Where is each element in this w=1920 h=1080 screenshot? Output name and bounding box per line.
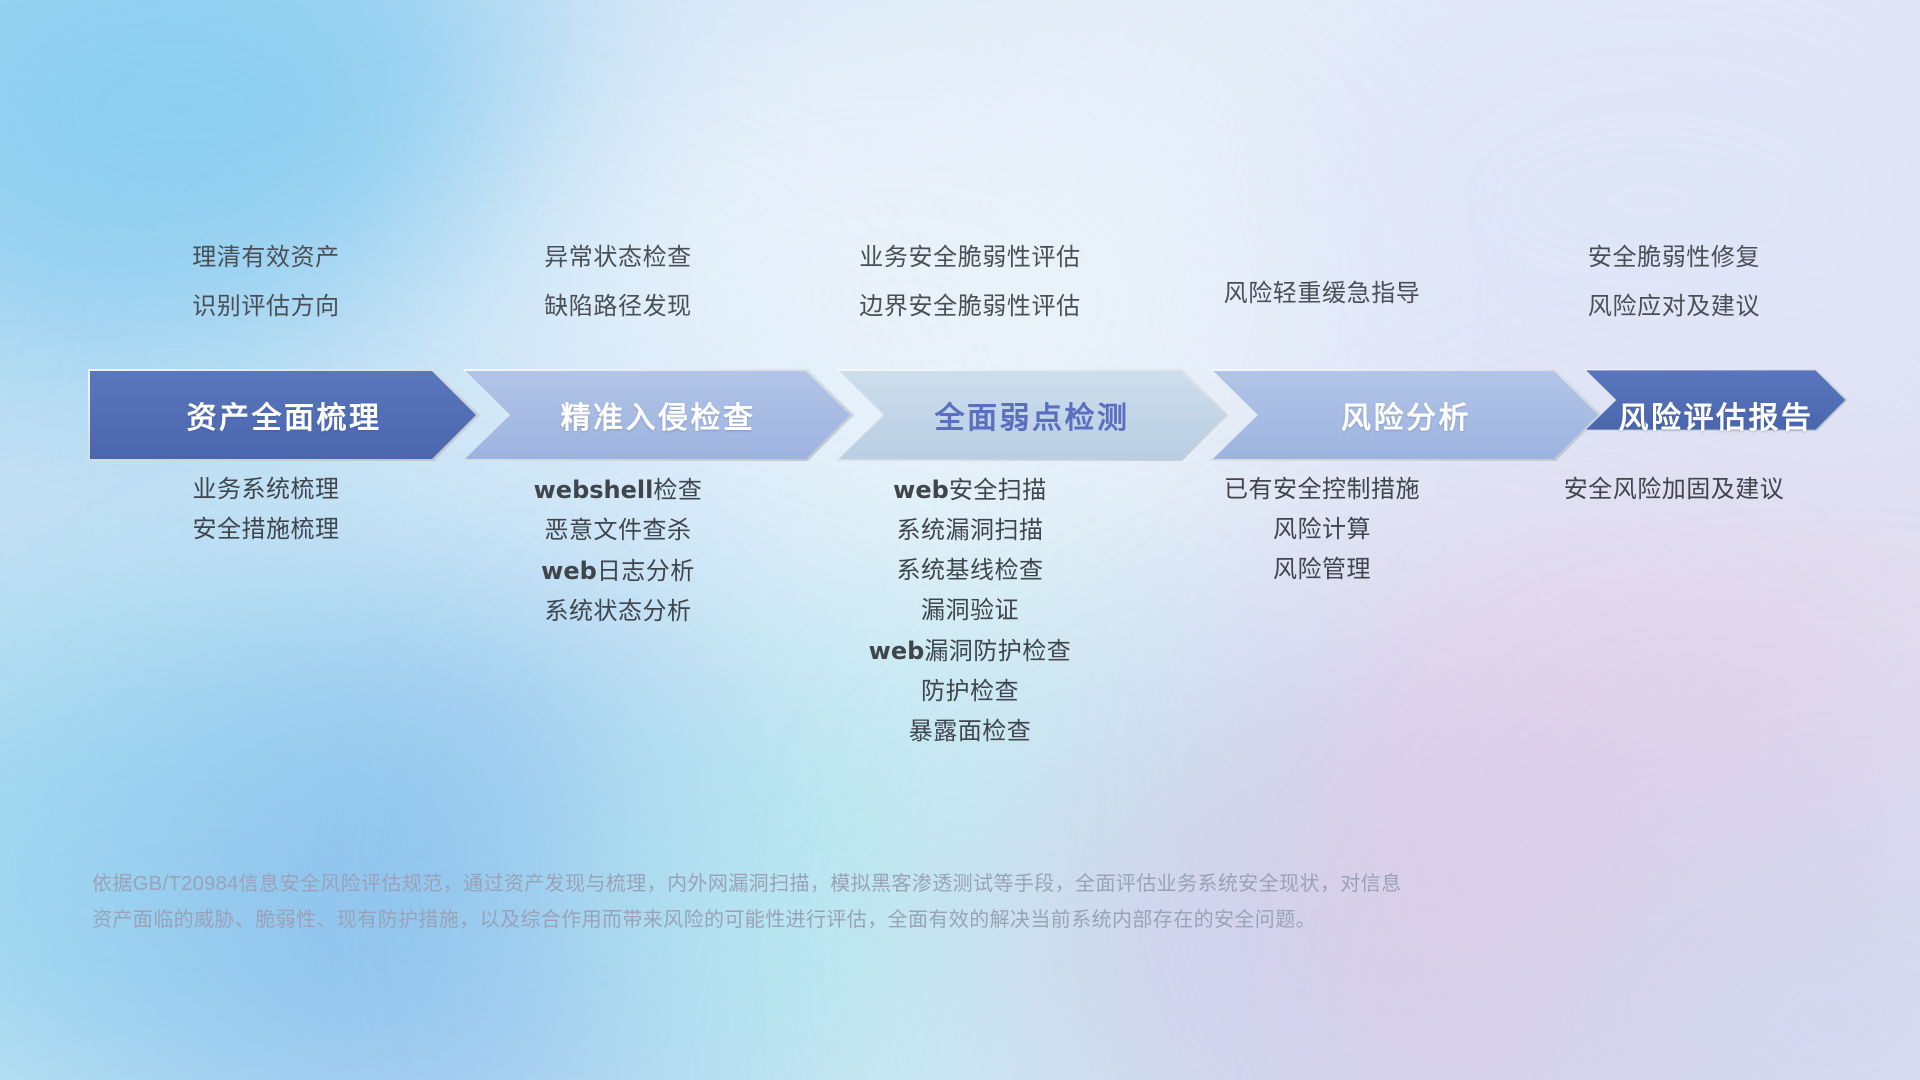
bottom-labels-stage-4: 已有安全控制措施 风险计算 风险管理 xyxy=(1146,470,1498,590)
bottom-label: web漏洞防护检查 xyxy=(869,631,1072,672)
bottom-label: 业务系统梳理 xyxy=(193,470,340,510)
bottom-label: 已有安全控制措施 xyxy=(1224,470,1420,510)
bottom-label: 安全风险加固及建议 xyxy=(1564,470,1785,510)
top-label: 缺陷路径发现 xyxy=(544,282,692,331)
bottom-label: 防护检查 xyxy=(921,672,1019,712)
top-labels-stage-4: 风险轻重缓急指导 xyxy=(1146,233,1498,353)
bottom-label: web安全扫描 xyxy=(893,470,1047,511)
chevron-stage-5[interactable]: 风险评估报告 xyxy=(1584,369,1848,461)
bottom-label-suffix: 安全扫描 xyxy=(949,477,1047,504)
bottom-label: web日志分析 xyxy=(541,551,695,592)
top-labels-row: 理清有效资产 识别评估方向 异常状态检查 缺陷路径发现 业务安全脆弱性评估 边界… xyxy=(90,233,1850,353)
chevron-stage-3[interactable]: 全面弱点检测 xyxy=(836,369,1228,461)
chevron-label: 资产全面梳理 xyxy=(187,393,382,437)
chevron-label: 全面弱点检测 xyxy=(935,393,1130,437)
bottom-labels-stage-1: 业务系统梳理 安全措施梳理 xyxy=(90,470,442,550)
bottom-label: 安全措施梳理 xyxy=(193,510,340,550)
bottom-label: 恶意文件查杀 xyxy=(545,511,692,551)
bottom-labels-stage-2: webshell检查 恶意文件查杀 web日志分析 系统状态分析 xyxy=(442,470,794,632)
bottom-label: 暴露面检查 xyxy=(909,712,1032,752)
top-label: 风险应对及建议 xyxy=(1588,282,1760,331)
top-label: 业务安全脆弱性评估 xyxy=(859,233,1080,282)
top-labels-stage-1: 理清有效资产 识别评估方向 xyxy=(90,233,442,353)
bottom-label: 风险管理 xyxy=(1273,550,1371,590)
top-label: 边界安全脆弱性评估 xyxy=(859,282,1080,331)
bottom-labels-stage-5: 安全风险加固及建议 xyxy=(1498,470,1850,510)
bottom-label: 系统基线检查 xyxy=(897,551,1044,591)
bottom-label-suffix: 日志分析 xyxy=(597,558,695,585)
bottom-label: webshell检查 xyxy=(534,470,703,511)
bottom-labels-row: 业务系统梳理 安全措施梳理 webshell检查 恶意文件查杀 web日志分析 … xyxy=(90,470,1850,752)
chevron-label: 风险分析 xyxy=(1341,393,1471,437)
top-label: 风险轻重缓急指导 xyxy=(1224,269,1421,318)
footer-line: 依据GB/T20984信息安全风险评估规范，通过资产发现与梳理，内外网漏洞扫描，… xyxy=(92,866,1852,902)
top-label: 理清有效资产 xyxy=(192,233,340,282)
bottom-labels-stage-3: web安全扫描 系统漏洞扫描 系统基线检查 漏洞验证 web漏洞防护检查 防护检… xyxy=(794,470,1146,752)
top-label: 识别评估方向 xyxy=(192,282,340,331)
footer-line: 资产面临的威胁、脆弱性、现有防护措施，以及综合作用而带来风险的可能性进行评估，全… xyxy=(92,902,1852,938)
top-label: 安全脆弱性修复 xyxy=(1588,233,1760,282)
chevron-label: 精准入侵检查 xyxy=(561,393,756,437)
top-label: 异常状态检查 xyxy=(544,233,692,282)
chevron-stage-4[interactable]: 风险分析 xyxy=(1210,369,1602,461)
top-labels-stage-5: 安全脆弱性修复 风险应对及建议 xyxy=(1498,233,1850,353)
top-labels-stage-2: 异常状态检查 缺陷路径发现 xyxy=(442,233,794,353)
bottom-label: 漏洞验证 xyxy=(921,591,1019,631)
bottom-label: 系统漏洞扫描 xyxy=(897,511,1044,551)
bottom-label: 系统状态分析 xyxy=(545,592,692,632)
chevron-stage-2[interactable]: 精准入侵检查 xyxy=(462,369,854,461)
bottom-label-suffix: 漏洞防护检查 xyxy=(924,638,1071,665)
top-labels-stage-3: 业务安全脆弱性评估 边界安全脆弱性评估 xyxy=(794,233,1146,353)
bottom-label: 风险计算 xyxy=(1273,510,1371,550)
process-chevron-banner: 资产全面梳理 精准入侵检查 xyxy=(88,369,1848,461)
footer-description: 依据GB/T20984信息安全风险评估规范，通过资产发现与梳理，内外网漏洞扫描，… xyxy=(92,866,1852,938)
chevron-label: 风险评估报告 xyxy=(1619,393,1814,437)
chevron-stage-1[interactable]: 资产全面梳理 xyxy=(88,369,480,461)
bottom-label-suffix: 检查 xyxy=(653,477,702,504)
